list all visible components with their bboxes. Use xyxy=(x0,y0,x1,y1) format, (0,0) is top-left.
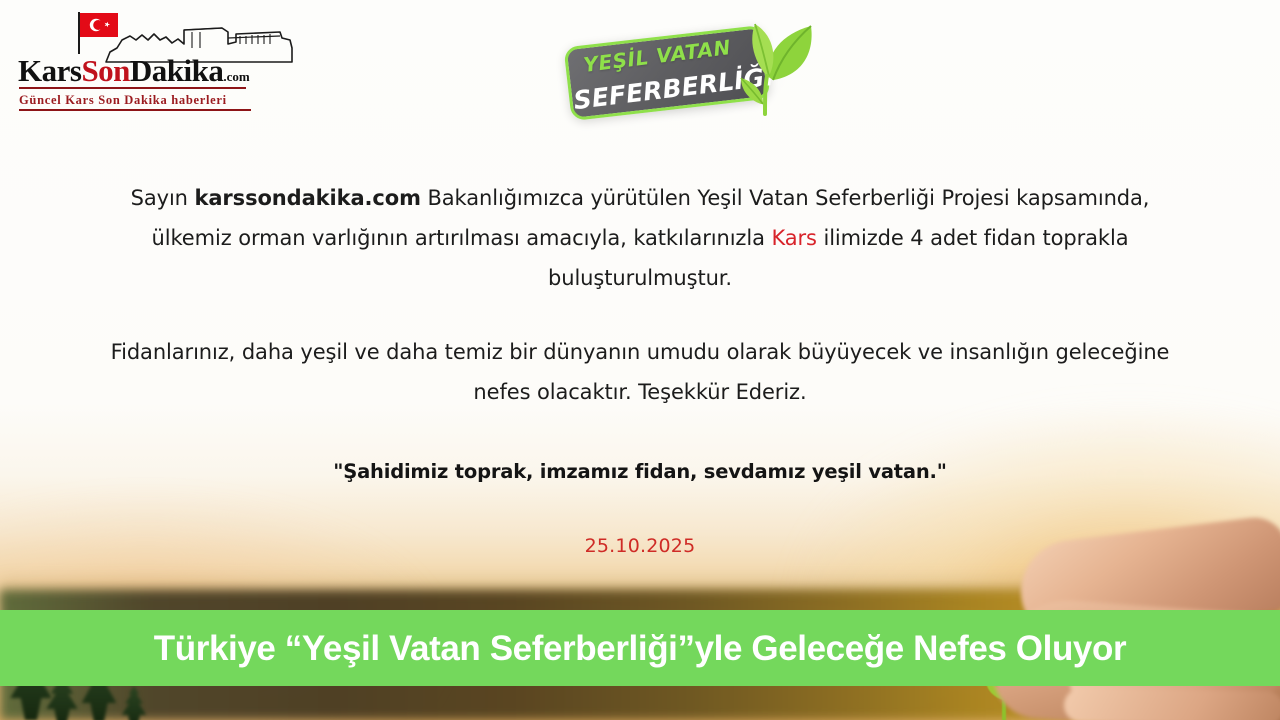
logo-text-son: Son xyxy=(81,53,129,88)
message-quote: "Şahidimiz toprak, imzamız fidan, sevdam… xyxy=(110,460,1170,483)
site-logo[interactable]: KarsSonDakika.com Güncel Kars Son Dakika… xyxy=(18,8,268,113)
message-paragraph-2: Fidanlarınız, daha yeşil ve daha temiz b… xyxy=(110,332,1170,412)
paragraph-spacer xyxy=(110,298,1170,332)
logo-text-dotcom: .com xyxy=(223,69,249,84)
message-date: 25.10.2025 xyxy=(110,535,1170,557)
message-body: Sayın karssondakika.com Bakanlığımızca y… xyxy=(0,178,1280,557)
paragraph1-site-name: karssondakika.com xyxy=(194,186,420,210)
leaf-icon xyxy=(715,14,825,124)
site-logo-tagline: Güncel Kars Son Dakika haberleri xyxy=(19,91,251,110)
logo-divider-bottom xyxy=(19,109,251,111)
page-header: KarsSonDakika.com Güncel Kars Son Dakika… xyxy=(0,0,1280,150)
paragraph1-prefix: Sayın xyxy=(131,186,195,210)
paragraph1-city: Kars xyxy=(771,226,816,250)
logo-divider-top xyxy=(19,87,246,89)
message-paragraph-1: Sayın karssondakika.com Bakanlığımızca y… xyxy=(110,178,1170,298)
logo-text-kars: Kars xyxy=(18,53,81,88)
headline-banner: Türkiye “Yeşil Vatan Seferberliği”yle Ge… xyxy=(0,610,1280,686)
campaign-logo[interactable]: YEŞİL VATAN SEFERBERLİĞİ xyxy=(533,14,823,136)
conifer-tree-icon xyxy=(112,686,156,720)
logo-text-dakika: Dakika xyxy=(130,53,223,88)
headline-banner-text: Türkiye “Yeşil Vatan Seferberliği”yle Ge… xyxy=(154,631,1126,666)
site-logo-wordmark: KarsSonDakika.com xyxy=(18,55,268,86)
